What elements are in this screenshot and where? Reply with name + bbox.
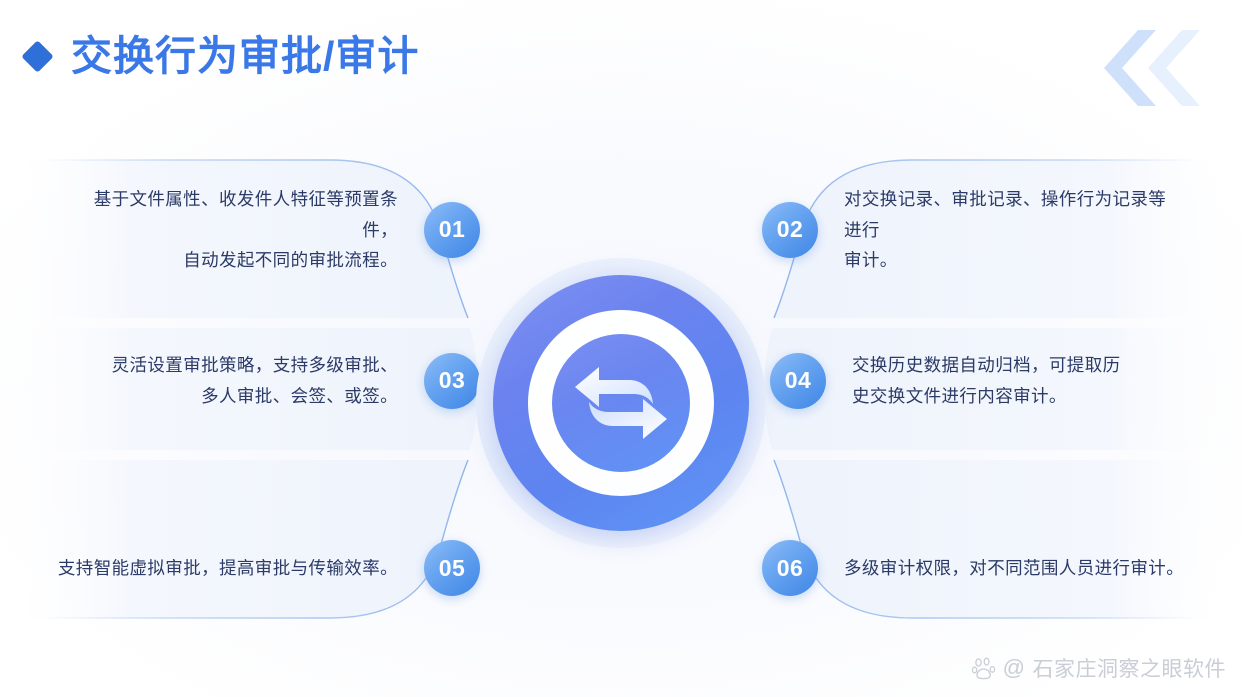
feature-badge-03: 03 <box>424 353 480 409</box>
feature-text-06: 多级审计权限，对不同范围人员进行审计。 <box>844 553 1184 584</box>
feature-item-01[interactable]: 基于文件属性、收发件人特征等预置条件， 自动发起不同的审批流程。 01 <box>60 184 480 276</box>
page-title: 交换行为审批/审计 <box>71 36 419 77</box>
feature-item-05[interactable]: 支持智能虚拟审批，提高审批与传输效率。 05 <box>50 540 480 596</box>
feature-badge-04: 04 <box>770 353 826 409</box>
feature-badge-01: 01 <box>424 202 480 258</box>
feature-badge-06: 06 <box>762 540 818 596</box>
feature-text-04: 交换历史数据自动归档，可提取历 史交换文件进行内容审计。 <box>852 350 1121 411</box>
feature-item-04[interactable]: 04 交换历史数据自动归档，可提取历 史交换文件进行内容审计。 <box>770 350 1210 411</box>
watermark-at: @ <box>1003 655 1026 681</box>
center-graphic <box>476 258 766 548</box>
feature-text-01: 基于文件属性、收发件人特征等预置条件， 自动发起不同的审批流程。 <box>60 184 398 276</box>
feature-item-03[interactable]: 灵活设置审批策略，支持多级审批、 多人审批、会签、或签。 03 <box>40 350 480 411</box>
double-chevron-left-icon <box>1094 28 1204 108</box>
slide-canvas: 交换行为审批/审计 <box>0 0 1242 697</box>
feature-text-02: 对交换记录、审批记录、操作行为记录等进行 审计。 <box>844 184 1182 276</box>
feature-text-03: 灵活设置审批策略，支持多级审批、 多人审批、会签、或签。 <box>112 350 398 411</box>
diamond-icon <box>21 40 54 73</box>
feature-badge-02: 02 <box>762 202 818 258</box>
feature-badge-05: 05 <box>424 540 480 596</box>
exchange-arrows-icon <box>569 357 673 449</box>
page-header: 交换行为审批/审计 <box>26 36 419 77</box>
feature-text-05: 支持智能虚拟审批，提高审批与传输效率。 <box>58 553 398 584</box>
baidu-paw-icon <box>972 656 996 680</box>
feature-item-06[interactable]: 06 多级审计权限，对不同范围人员进行审计。 <box>762 540 1192 596</box>
feature-item-02[interactable]: 02 对交换记录、审批记录、操作行为记录等进行 审计。 <box>762 184 1182 276</box>
watermark-text: 石家庄洞察之眼软件 <box>1033 653 1227 683</box>
center-ring-inner <box>552 334 690 472</box>
watermark: @ 石家庄洞察之眼软件 <box>972 653 1226 683</box>
